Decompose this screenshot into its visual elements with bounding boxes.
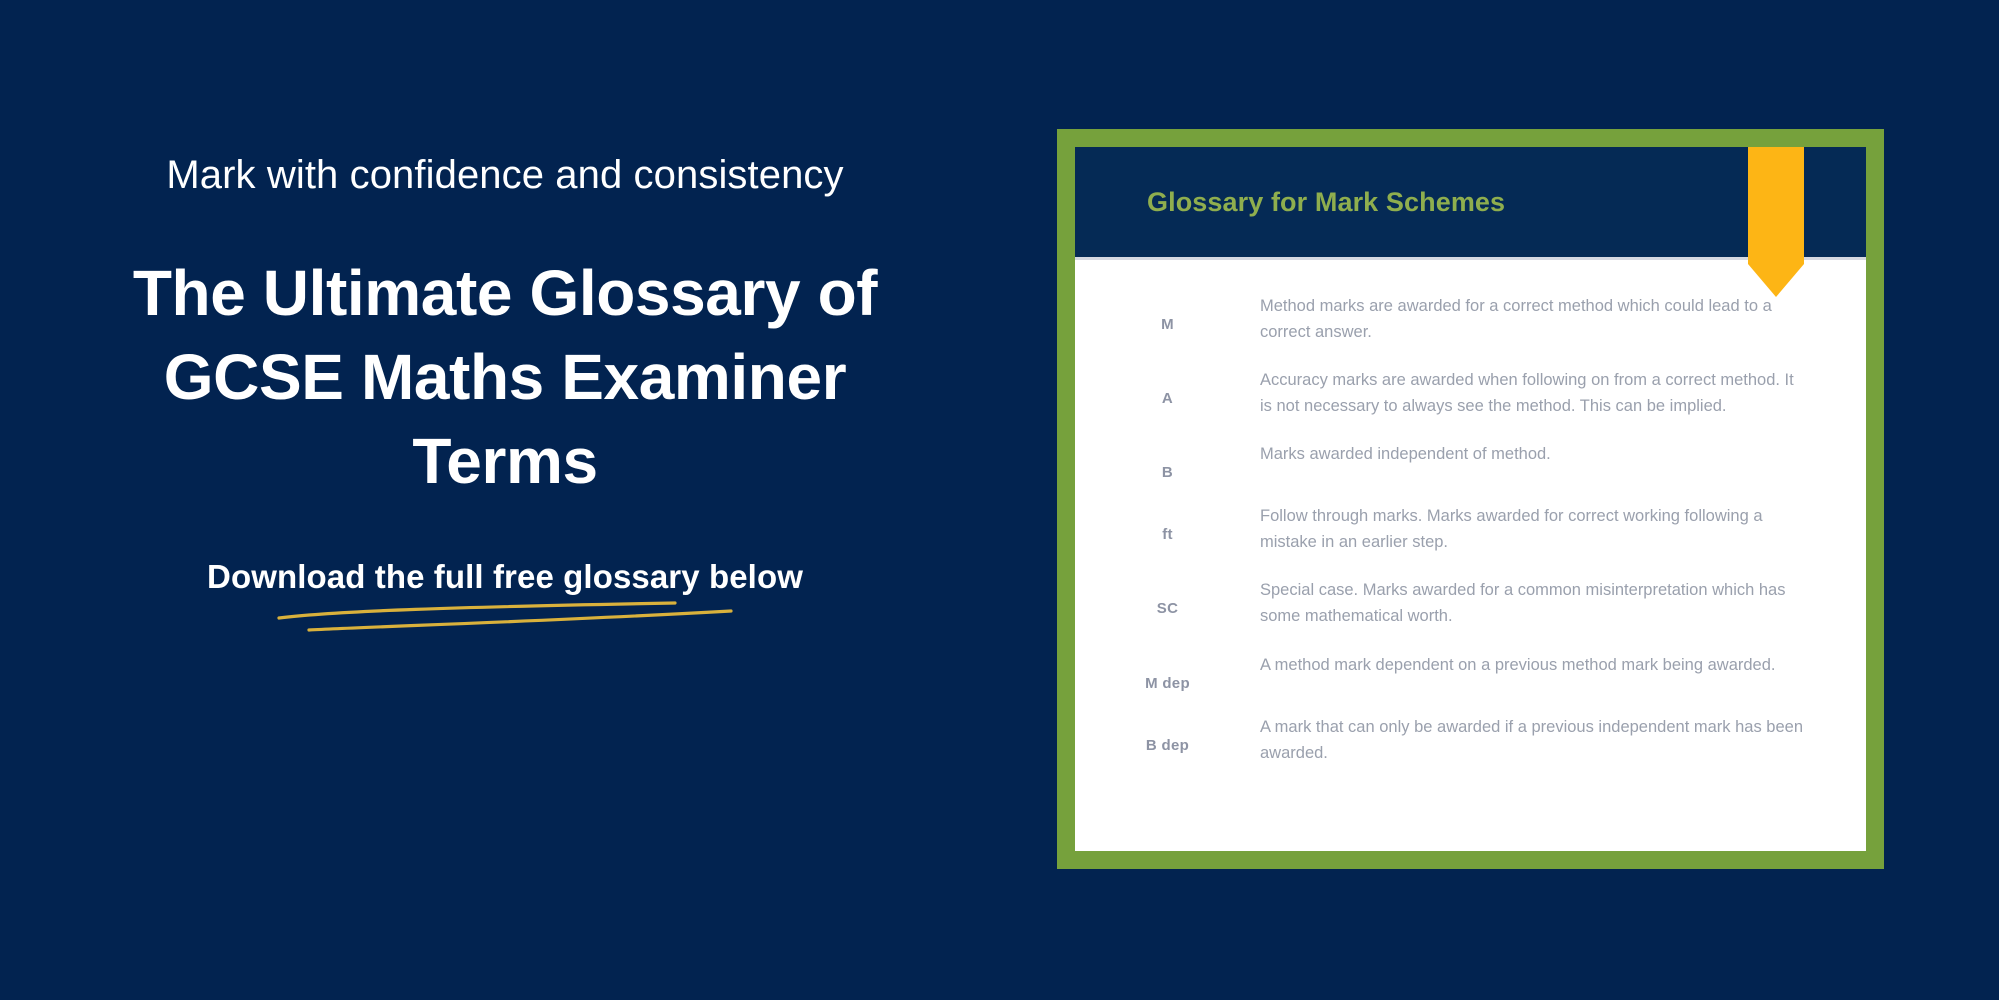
- table-row: ft Follow through marks. Marks awarded f…: [1075, 492, 1866, 566]
- glossary-term: SC: [1075, 577, 1260, 617]
- glossary-definition: Follow through marks. Marks awarded for …: [1260, 503, 1866, 555]
- glossary-card: Glossary for Mark Schemes M Method marks…: [1075, 147, 1866, 851]
- glossary-table: M Method marks are awarded for a correct…: [1075, 260, 1866, 777]
- glossary-definition: Method marks are awarded for a correct m…: [1260, 293, 1866, 345]
- glossary-card-title: Glossary for Mark Schemes: [1075, 187, 1505, 218]
- table-row: B Marks awarded independent of method.: [1075, 430, 1866, 492]
- table-row: SC Special case. Marks awarded for a com…: [1075, 566, 1866, 640]
- glossary-definition: A method mark dependent on a previous me…: [1260, 652, 1866, 678]
- glossary-term: M: [1075, 293, 1260, 333]
- promo-headline: The Ultimate Glossary of GCSE Maths Exam…: [65, 252, 945, 503]
- glossary-term: B dep: [1075, 714, 1260, 754]
- glossary-card-header: Glossary for Mark Schemes: [1075, 147, 1866, 260]
- table-row: A Accuracy marks are awarded when follow…: [1075, 356, 1866, 430]
- glossary-term: B: [1075, 441, 1260, 481]
- hand-drawn-underline-icon: [275, 598, 735, 638]
- promo-eyebrow: Mark with confidence and consistency: [166, 150, 843, 200]
- glossary-term: ft: [1075, 503, 1260, 543]
- promo-subline-group: Download the full free glossary below: [207, 558, 803, 596]
- glossary-definition: A mark that can only be awarded if a pre…: [1260, 714, 1866, 766]
- promo-subline: Download the full free glossary below: [207, 558, 803, 596]
- glossary-definition: Marks awarded independent of method.: [1260, 441, 1866, 467]
- glossary-definition: Accuracy marks are awarded when followin…: [1260, 367, 1866, 419]
- glossary-term: A: [1075, 367, 1260, 407]
- promo-text-column: Mark with confidence and consistency The…: [0, 150, 1010, 596]
- promo-banner: Mark with confidence and consistency The…: [0, 0, 1999, 1000]
- glossary-card-frame: Glossary for Mark Schemes M Method marks…: [1057, 129, 1884, 869]
- table-row: B dep A mark that can only be awarded if…: [1075, 703, 1866, 777]
- table-row: M dep A method mark dependent on a previ…: [1075, 641, 1866, 703]
- glossary-definition: Special case. Marks awarded for a common…: [1260, 577, 1866, 629]
- table-row: M Method marks are awarded for a correct…: [1075, 282, 1866, 356]
- glossary-term: M dep: [1075, 652, 1260, 692]
